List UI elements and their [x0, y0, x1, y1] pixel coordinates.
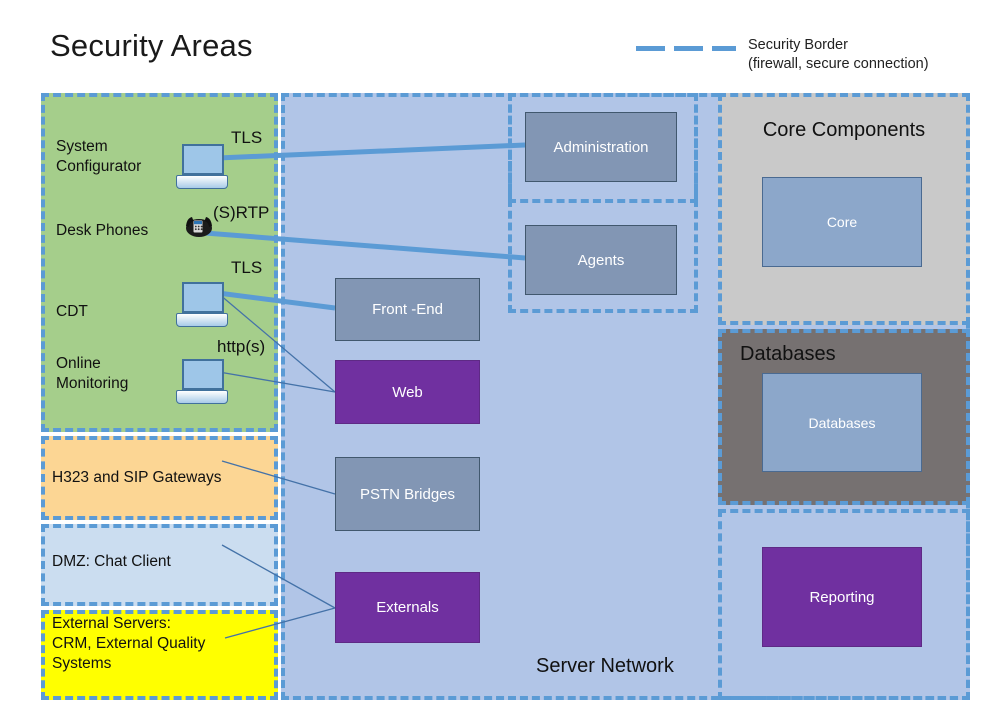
node-reporting[interactable]: Reporting [762, 547, 922, 647]
pc-base [176, 175, 228, 189]
client-label-cdt: CDT [56, 302, 88, 322]
zone-label-dmz: DMZ: Chat Client [52, 552, 171, 572]
node-agents-label: Agents [578, 252, 625, 269]
client-label-online-monitoring: Online Monitoring [56, 354, 128, 394]
protocol-label-https: http(s) [217, 337, 265, 357]
legend-line-2: (firewall, secure connection) [748, 55, 929, 74]
node-databases-label: Databases [809, 415, 876, 431]
legend: Security Border (firewall, secure connec… [636, 36, 986, 84]
node-web-label: Web [392, 384, 423, 401]
server-network-label: Server Network [536, 655, 674, 678]
node-web[interactable]: Web [335, 360, 480, 424]
node-core-label: Core [827, 214, 857, 230]
node-front-end-label: Front -End [372, 301, 443, 318]
client-label-line2: Configurator [56, 157, 141, 177]
desk-phone-icon [184, 212, 214, 238]
client-label-line2: Monitoring [56, 374, 128, 394]
protocol-label-srtp: (S)RTP [213, 203, 269, 223]
core-components-label: Core Components [722, 119, 966, 142]
node-reporting-label: Reporting [809, 589, 874, 606]
zone-label-line3: Systems [52, 654, 205, 674]
pc-base [176, 390, 228, 404]
client-label-desk-phones: Desk Phones [56, 221, 148, 241]
legend-text: Security Border (firewall, secure connec… [748, 36, 929, 74]
zone-label-external-servers: External Servers: CRM, External Quality … [52, 614, 205, 674]
dashed-line-icon [636, 46, 736, 51]
pc-base [176, 313, 228, 327]
zone-label-line2: CRM, External Quality [52, 634, 205, 654]
client-label-system-configurator: System Configurator [56, 137, 141, 177]
node-core[interactable]: Core [762, 177, 922, 267]
pc-screen [182, 359, 224, 390]
node-administration-label: Administration [553, 139, 648, 156]
node-administration[interactable]: Administration [525, 112, 677, 182]
protocol-label-tls-mid: TLS [231, 258, 262, 278]
node-externals[interactable]: Externals [335, 572, 480, 643]
node-databases[interactable]: Databases [762, 373, 922, 472]
legend-line-1: Security Border [748, 36, 929, 55]
client-label-line1: System [56, 137, 141, 157]
node-pstn-bridges[interactable]: PSTN Bridges [335, 457, 480, 531]
node-pstn-bridges-label: PSTN Bridges [360, 486, 455, 503]
pc-screen [182, 282, 224, 313]
zone-label-line1: External Servers: [52, 614, 205, 634]
node-agents[interactable]: Agents [525, 225, 677, 295]
databases-zone-label: Databases [740, 343, 836, 366]
page-title: Security Areas [50, 28, 253, 64]
pc-screen [182, 144, 224, 175]
node-externals-label: Externals [376, 599, 439, 616]
node-front-end[interactable]: Front -End [335, 278, 480, 341]
zone-label-gateways: H323 and SIP Gateways [52, 468, 221, 488]
protocol-label-tls-top: TLS [231, 128, 262, 148]
client-label-line1: Online [56, 354, 128, 374]
